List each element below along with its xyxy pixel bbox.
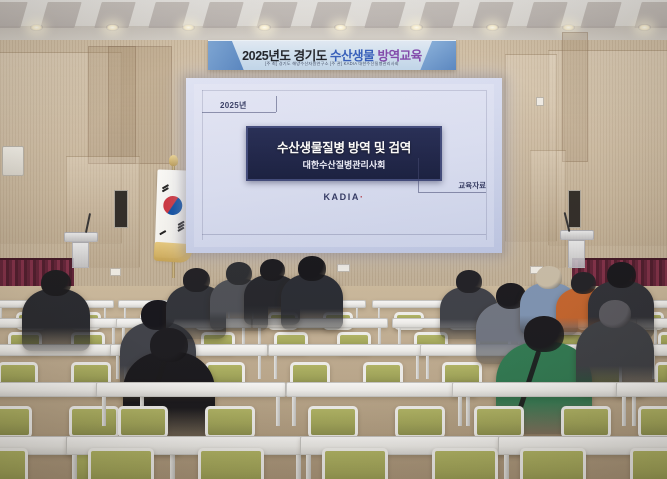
lectern-right-base <box>568 240 585 268</box>
table-leg <box>466 397 470 426</box>
chair[interactable] <box>432 448 498 479</box>
chair[interactable] <box>205 406 255 438</box>
wall-panel-right-column <box>562 32 588 162</box>
table-leg <box>102 397 106 426</box>
kadia-logo-mark: · <box>360 192 365 202</box>
chair[interactable] <box>69 406 119 438</box>
chair[interactable] <box>88 448 154 479</box>
attendee-torso <box>22 289 90 351</box>
ceiling-downlight <box>410 24 423 31</box>
wall-outlet-left[interactable] <box>110 268 121 276</box>
table <box>96 382 286 397</box>
slide-year-rule-h <box>202 112 276 113</box>
chair[interactable] <box>474 406 524 438</box>
banner-subtitle: [주 최] 경기도 해양수산자원연구소 [주 관] KADIA 대한수산질병관리… <box>208 61 456 67</box>
table-leg <box>72 455 77 479</box>
attendee-head <box>41 270 71 296</box>
slide-year-rule-v <box>276 96 277 112</box>
ceiling-downlight <box>334 24 347 31</box>
ceiling-downlight <box>258 24 271 31</box>
chair[interactable] <box>520 448 586 479</box>
attendee-head <box>524 316 564 352</box>
lectern-left[interactable] <box>64 232 98 242</box>
taeguk-circle <box>160 193 185 218</box>
slide-reference-label: 교육자료 <box>458 180 486 191</box>
lectern-left-base <box>72 242 89 268</box>
chair[interactable] <box>322 448 388 479</box>
lectern-right[interactable] <box>560 230 594 240</box>
table-leg <box>306 455 311 479</box>
chair[interactable] <box>198 448 264 479</box>
wall-vent-left <box>114 190 128 228</box>
table <box>452 382 642 397</box>
kadia-logo: KADIA· <box>194 192 494 202</box>
chair[interactable] <box>0 406 32 438</box>
kadia-logo-text: KADIA <box>323 192 360 202</box>
trigram-6 <box>159 230 166 235</box>
slide-ref-rule-v <box>418 158 419 192</box>
chair[interactable] <box>630 448 667 479</box>
attendee-head <box>298 256 326 281</box>
event-banner: 2025년도 경기도 수산생물 방역교육 [주 최] 경기도 해양수산자원연구소… <box>208 40 456 70</box>
ceiling-downlight <box>562 24 575 31</box>
attendee <box>281 256 343 337</box>
slide-border-bottom <box>202 234 486 235</box>
table-leg <box>116 356 119 379</box>
ceiling-downlight <box>182 24 195 31</box>
slide-title: 수산생물질병 방역 및 검역 <box>277 137 411 156</box>
slide-ref-rule-h <box>418 192 486 193</box>
slide-border-right <box>486 90 487 240</box>
attendee-head <box>183 268 210 292</box>
table <box>286 382 476 397</box>
wall-panel-center-right <box>505 54 557 242</box>
seminar-room-photo: 2025년 수산생물질병 방역 및 검역 대한수산질병관리사회 KADIA· 교… <box>0 0 667 479</box>
wall-vent-right <box>568 190 581 228</box>
chair[interactable] <box>0 448 28 479</box>
chair[interactable] <box>118 406 168 438</box>
ceiling-downlight <box>30 24 43 31</box>
attendee <box>22 270 90 358</box>
wall-switch-right[interactable] <box>536 97 544 106</box>
table-leg <box>296 455 301 479</box>
table-leg <box>416 356 419 379</box>
table-leg <box>458 397 462 426</box>
table-leg <box>258 356 261 379</box>
chair[interactable] <box>561 406 611 438</box>
attendee-head <box>607 262 636 288</box>
wall-panel-left-column <box>108 46 136 164</box>
table-leg <box>276 397 280 426</box>
table <box>268 344 426 356</box>
wall-control-panel-left[interactable] <box>2 146 24 176</box>
chair[interactable] <box>395 406 445 438</box>
attendee-head <box>599 300 631 328</box>
table-leg <box>504 455 509 479</box>
ceiling-downlight <box>106 24 119 31</box>
table-leg <box>292 397 296 426</box>
ceiling-downlight <box>638 24 651 31</box>
attendee-torso <box>281 274 343 330</box>
table-leg <box>274 356 277 379</box>
chair[interactable] <box>638 406 667 438</box>
table <box>616 382 667 397</box>
slide-year-label: 2025년 <box>220 100 247 111</box>
ceiling-downlight <box>486 24 499 31</box>
table-leg <box>622 397 626 426</box>
table-leg <box>632 397 636 426</box>
attendee-head <box>150 328 188 362</box>
slide-border-top <box>202 90 486 91</box>
slide-title-box: 수산생물질병 방역 및 검역 대한수산질병관리사회 <box>246 126 442 181</box>
table-leg <box>426 356 429 379</box>
table-leg <box>170 455 175 479</box>
chair[interactable] <box>308 406 358 438</box>
flag-finial <box>169 155 178 166</box>
slide-surface: 2025년 수산생물질병 방역 및 검역 대한수산질병관리사회 KADIA· 교… <box>194 84 494 247</box>
slide-subtitle: 대한수산질병관리사회 <box>303 158 386 171</box>
